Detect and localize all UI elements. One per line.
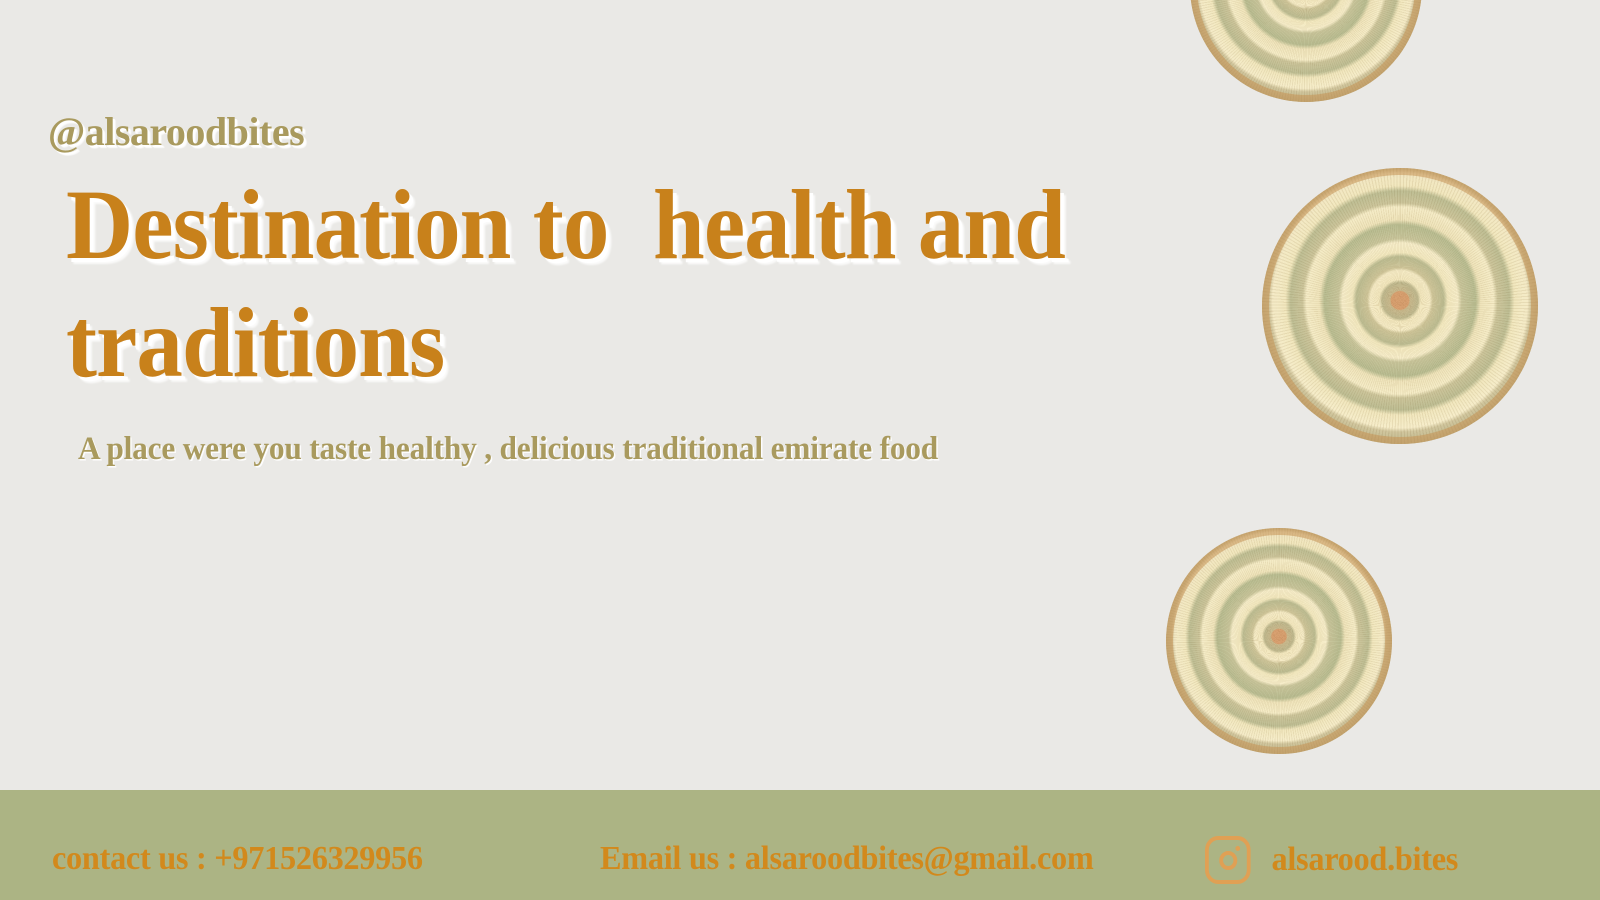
wood-slice-bottom-icon (1166, 528, 1392, 754)
wood-grain (1166, 528, 1392, 754)
page-subtitle: A place were you taste healthy , delicio… (78, 426, 1123, 473)
instagram-handle-label: alsarood.bites (1272, 841, 1459, 879)
wood-rings (1166, 528, 1392, 754)
contact-phone[interactable]: contact us : +971526329956 (52, 840, 423, 878)
promo-banner: @alsaroodbites Destination to health and… (0, 0, 1600, 900)
wood-grain (1190, 0, 1422, 102)
wood-slice-large-icon (1262, 168, 1538, 444)
wood-slice-top-icon (1190, 0, 1422, 102)
hero-content: @alsaroodbites Destination to health and… (48, 112, 1178, 473)
contact-email-label: Email us : alsaroodbites@gmail.com (600, 840, 1094, 878)
wood-bark-edge (1262, 168, 1538, 444)
instagram-icon (1205, 836, 1251, 884)
contact-email[interactable]: Email us : alsaroodbites@gmail.com (600, 840, 1094, 878)
contact-instagram[interactable]: alsarood.bites (1205, 836, 1458, 884)
wood-rings (1190, 0, 1422, 102)
contact-phone-label: contact us : +971526329956 (52, 840, 423, 878)
brand-handle: @alsaroodbites (48, 112, 1178, 152)
wood-bark-edge (1190, 0, 1422, 102)
wood-grain (1262, 168, 1538, 444)
page-title: Destination to health and traditions (66, 166, 1100, 402)
footer-contact-bar: contact us : +971526329956 Email us : al… (0, 790, 1600, 900)
wood-bark-edge (1166, 528, 1392, 754)
wood-rings (1262, 168, 1538, 444)
